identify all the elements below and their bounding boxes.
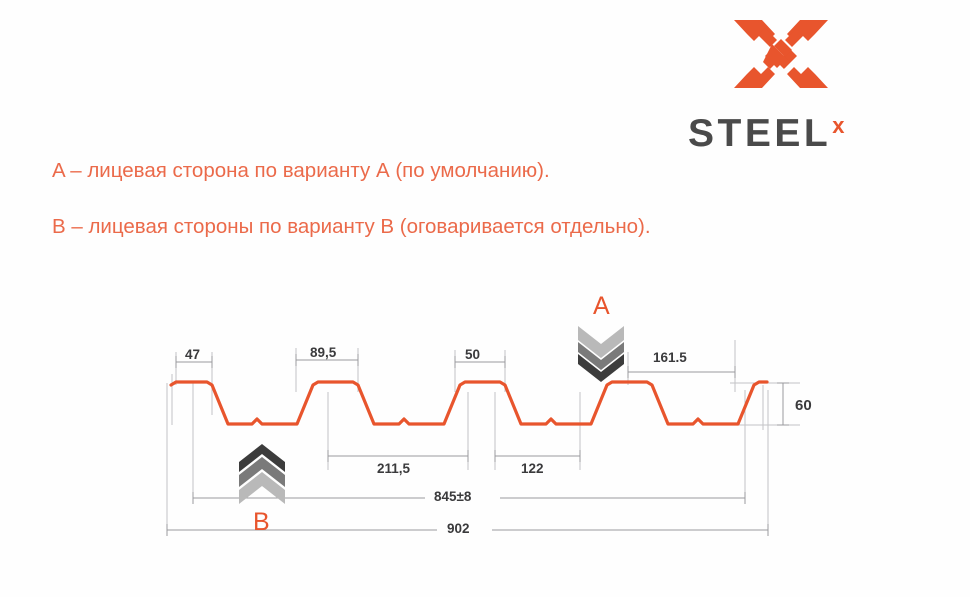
face-marker-b-label: B bbox=[253, 508, 270, 537]
dim-label-crest-width: 47 bbox=[185, 347, 200, 362]
dim-label-rib-pitch-right: 161.5 bbox=[653, 350, 687, 365]
face-marker-a-label: A bbox=[593, 292, 610, 321]
profile-outline bbox=[171, 382, 767, 424]
dim-label-span-left: 211,5 bbox=[377, 461, 410, 476]
face-marker-a-chevrons bbox=[578, 326, 624, 382]
profile-drawing-svg bbox=[0, 0, 970, 597]
dim-label-span-mid: 122 bbox=[521, 461, 544, 476]
profile-technical-drawing: 47 89,5 50 161.5 211,5 122 845±8 902 60 … bbox=[0, 0, 970, 597]
face-marker-b-chevrons bbox=[239, 444, 285, 504]
extension-lines bbox=[167, 340, 800, 530]
dim-label-profile-height: 60 bbox=[795, 397, 812, 414]
dim-label-useful-width: 845±8 bbox=[434, 489, 471, 504]
dim-label-rib-top-width: 50 bbox=[465, 347, 480, 362]
dim-label-valley-width: 89,5 bbox=[310, 345, 336, 360]
dim-label-overall-width: 902 bbox=[447, 521, 470, 536]
